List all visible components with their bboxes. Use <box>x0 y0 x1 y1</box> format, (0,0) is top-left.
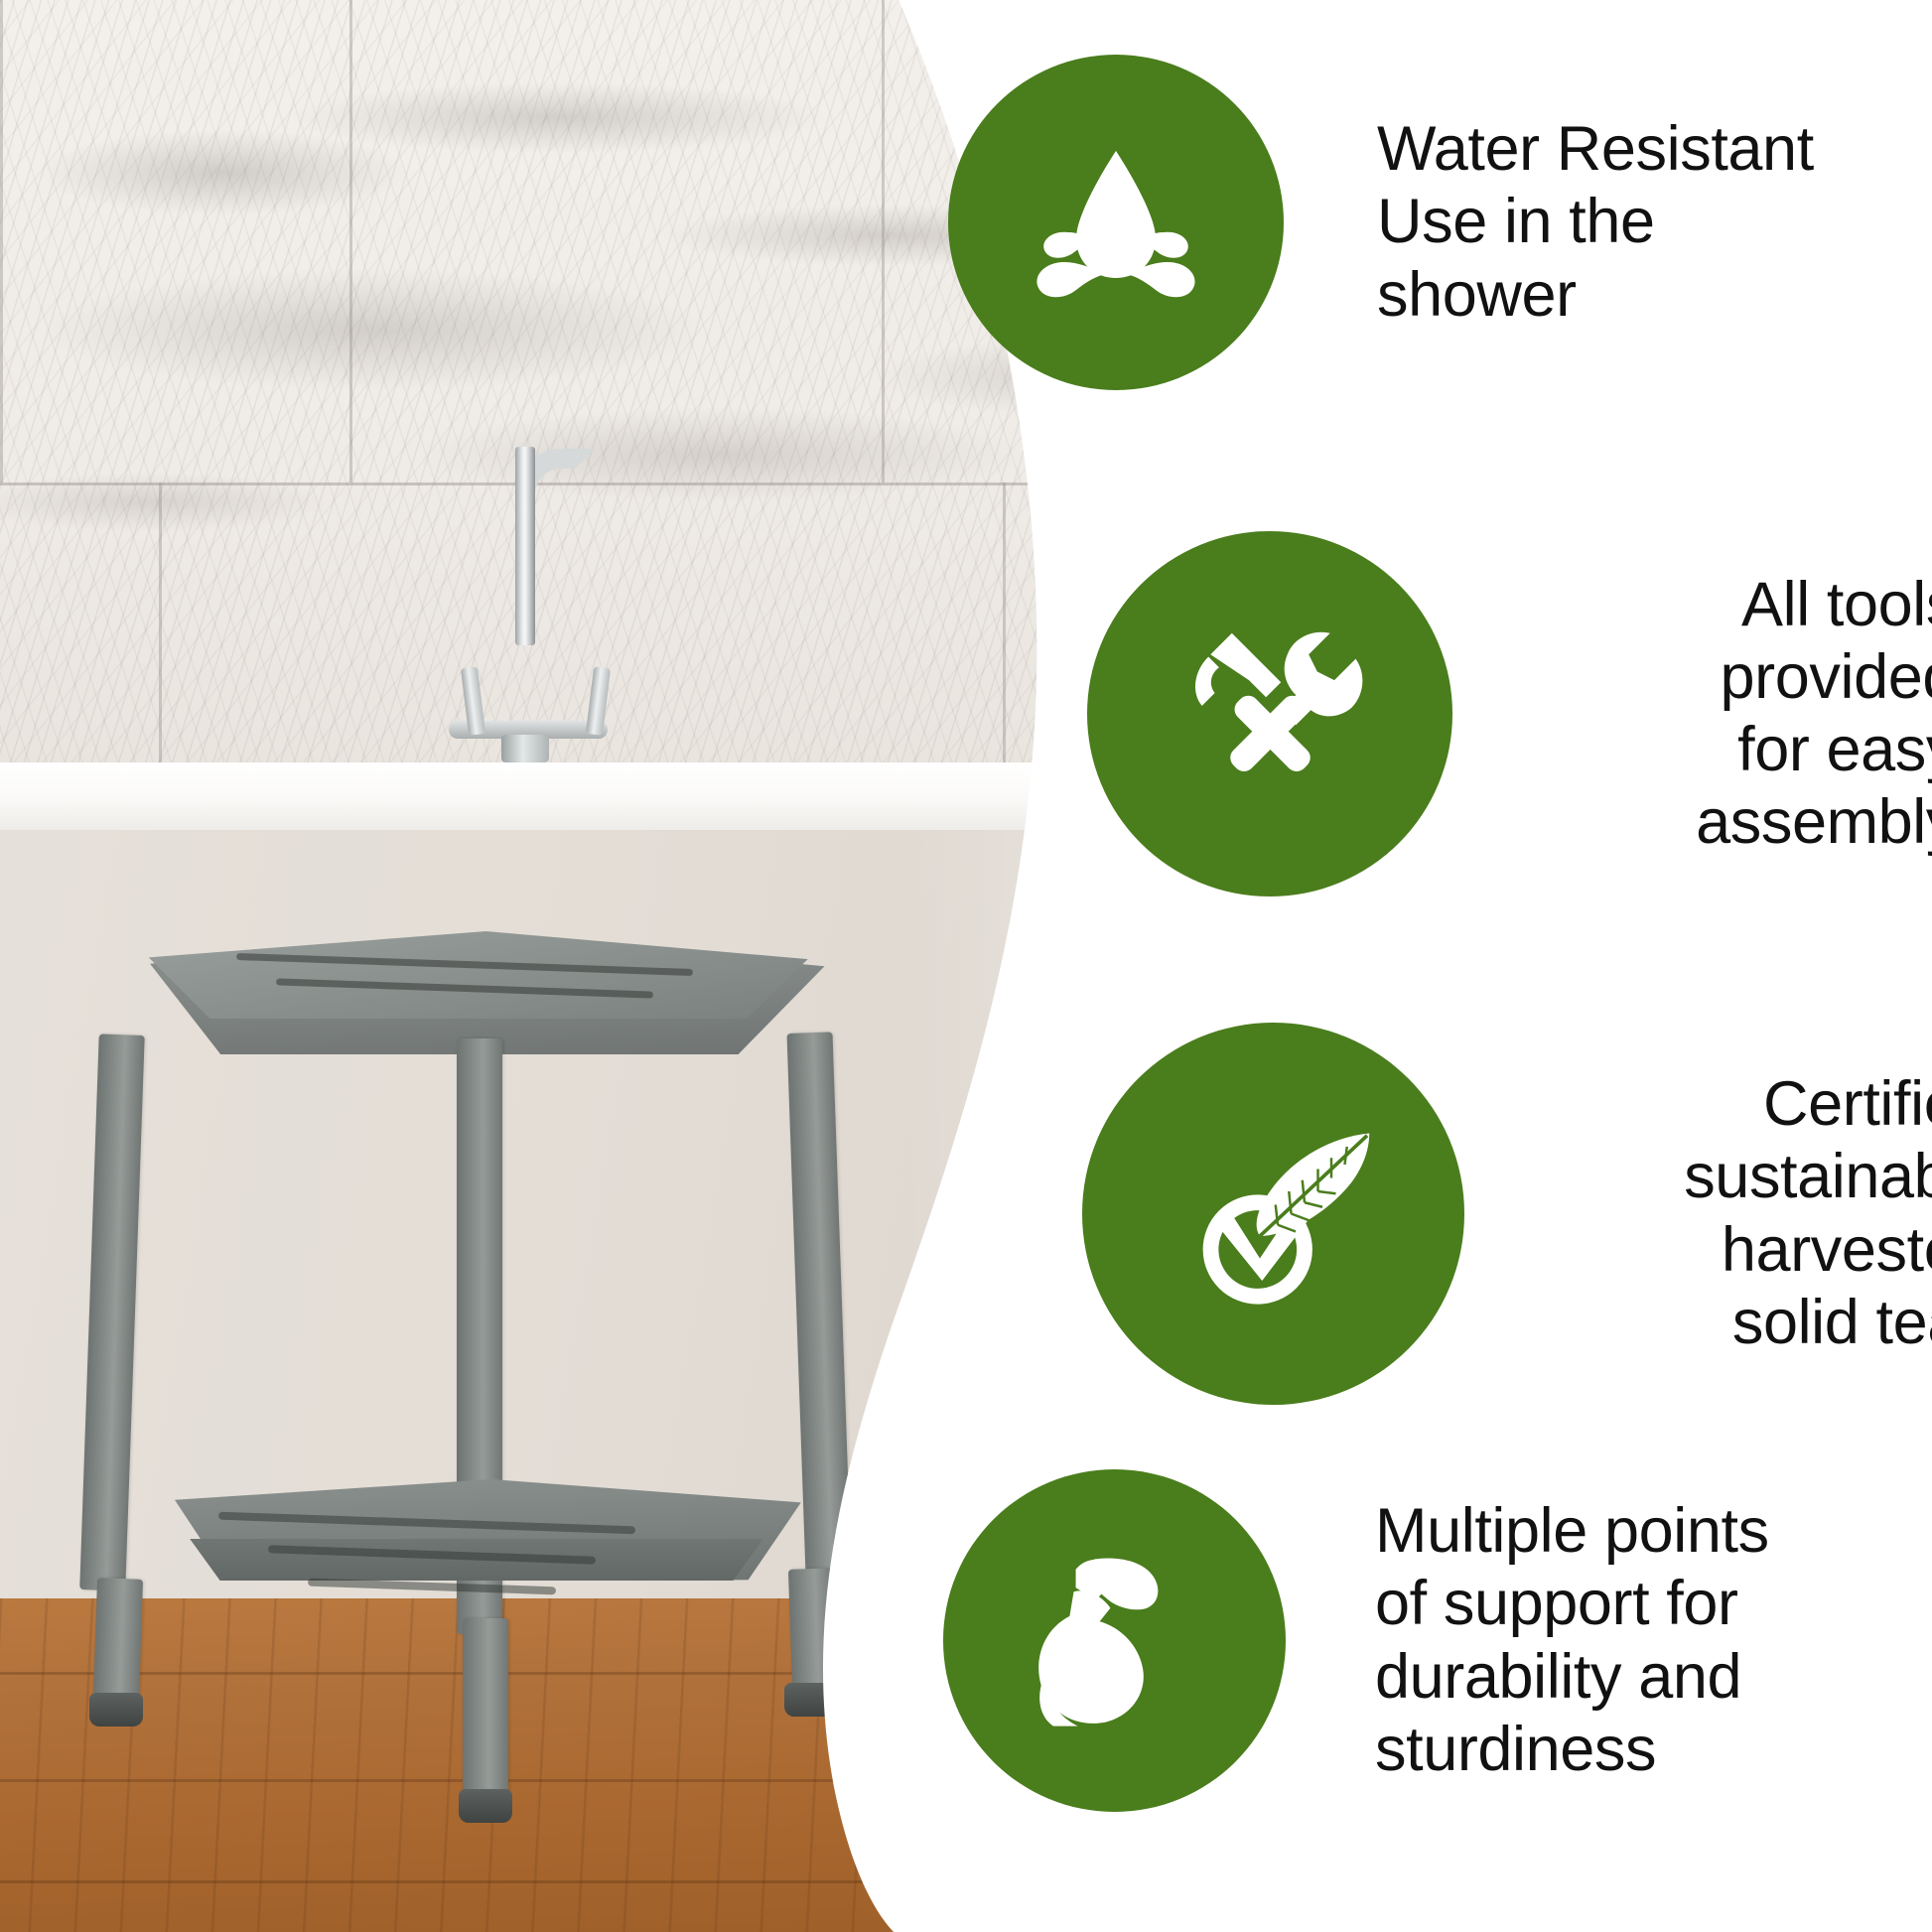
leaf-check-icon <box>1162 1102 1385 1325</box>
feature-row-water-resistant[interactable]: Water Resistant Use in the shower <box>948 55 1844 390</box>
feature-label: Water Resistant Use in the shower <box>1377 113 1844 331</box>
feature-label: Certified sustainably harvested solid te… <box>1536 1068 1932 1358</box>
feature-row-sustainable-teak[interactable]: Certified sustainably harvested solid te… <box>1082 1023 1932 1405</box>
feature-icon-badge <box>948 55 1284 390</box>
feature-icon-badge <box>1082 1023 1464 1405</box>
feature-label: All tools provided for easy assembly <box>1540 569 1932 859</box>
infographic-canvas: Water Resistant Use in the shower <box>0 0 1932 1932</box>
hammer-wrench-icon <box>1164 608 1377 821</box>
feature-icon-badge <box>1087 531 1452 897</box>
feature-label: Multiple points of support for durabilit… <box>1375 1495 1881 1785</box>
flexed-bicep-icon <box>1013 1539 1216 1742</box>
feature-row-durability[interactable]: Multiple points of support for durabilit… <box>943 1469 1881 1812</box>
feature-row-tools-provided[interactable]: All tools provided for easy assembly <box>1087 531 1932 897</box>
water-drop-splash-icon <box>1017 123 1215 322</box>
feature-icon-badge <box>943 1469 1286 1812</box>
feature-list: Water Resistant Use in the shower <box>0 0 1932 1932</box>
